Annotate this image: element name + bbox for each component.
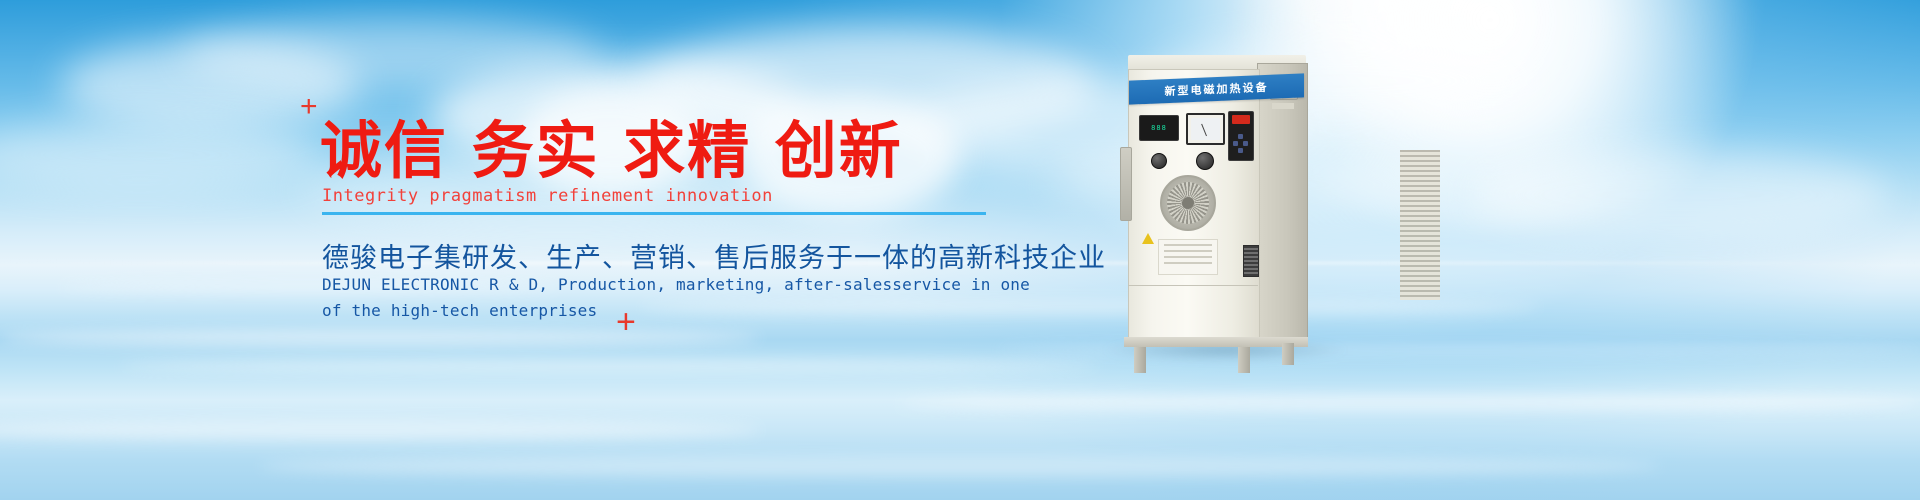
spec-label-line: [1164, 250, 1212, 252]
vent-box: [1243, 245, 1259, 277]
control-knob: [1151, 153, 1167, 169]
plus-decoration-icon: +: [300, 92, 318, 122]
hero-banner: + + 诚信 务实 求精 创新 Integrity pragmatism ref…: [0, 0, 1920, 500]
gauge-needle: [1201, 124, 1207, 136]
water-streak: [0, 330, 760, 346]
side-strip: [1120, 147, 1132, 221]
subtitle-english-line-2: of the high-tech enterprises: [322, 301, 597, 320]
analog-gauge: [1186, 113, 1225, 145]
cabinet-base: [1124, 337, 1308, 347]
water-streak: [640, 300, 1540, 314]
ventilation-grille: [1400, 150, 1440, 300]
spec-label-line: [1164, 256, 1212, 258]
product-image-heating-cabinet: 新型电磁加热设备 888: [1120, 55, 1320, 355]
warning-triangle-icon: [1142, 233, 1154, 244]
fan-grille: [1160, 175, 1216, 231]
cabinet-leg: [1282, 343, 1294, 365]
door-seam: [1128, 285, 1258, 286]
water-streak: [120, 360, 1100, 372]
keypad-button: [1238, 134, 1243, 139]
cabinet-tag: [1272, 103, 1294, 109]
keypad-button: [1233, 141, 1238, 146]
cabinet-leg: [1134, 347, 1146, 373]
headline-english: Integrity pragmatism refinement innovati…: [322, 186, 773, 206]
digital-display-readout: 888: [1151, 124, 1167, 132]
cloud: [1470, 150, 1890, 240]
keypad-button: [1243, 141, 1248, 146]
subtitle-english-line-1: DEJUN ELECTRONIC R & D, Production, mark…: [322, 275, 1030, 294]
water-streak: [260, 455, 1660, 477]
cabinet-leg: [1238, 347, 1250, 373]
keypad-led: [1232, 115, 1250, 124]
subtitle-chinese: 德骏电子集研发、生产、营销、售后服务于一体的高新科技企业: [322, 236, 1106, 275]
plus-decoration-icon: +: [616, 305, 636, 339]
keypad-button: [1238, 148, 1243, 153]
product-name-plate-label: 新型电磁加热设备: [1165, 79, 1269, 99]
spec-label-line: [1164, 262, 1212, 264]
water-streak: [900, 395, 1920, 411]
headline-chinese: 诚信 务实 求精 创新: [320, 120, 903, 182]
spec-label-line: [1164, 244, 1212, 246]
gauge-face: [1191, 118, 1220, 140]
control-keypad: [1228, 111, 1254, 161]
control-knob: [1196, 152, 1214, 170]
divider-rule: [322, 212, 986, 215]
spec-label: [1158, 239, 1218, 275]
digital-display: 888: [1139, 115, 1179, 141]
